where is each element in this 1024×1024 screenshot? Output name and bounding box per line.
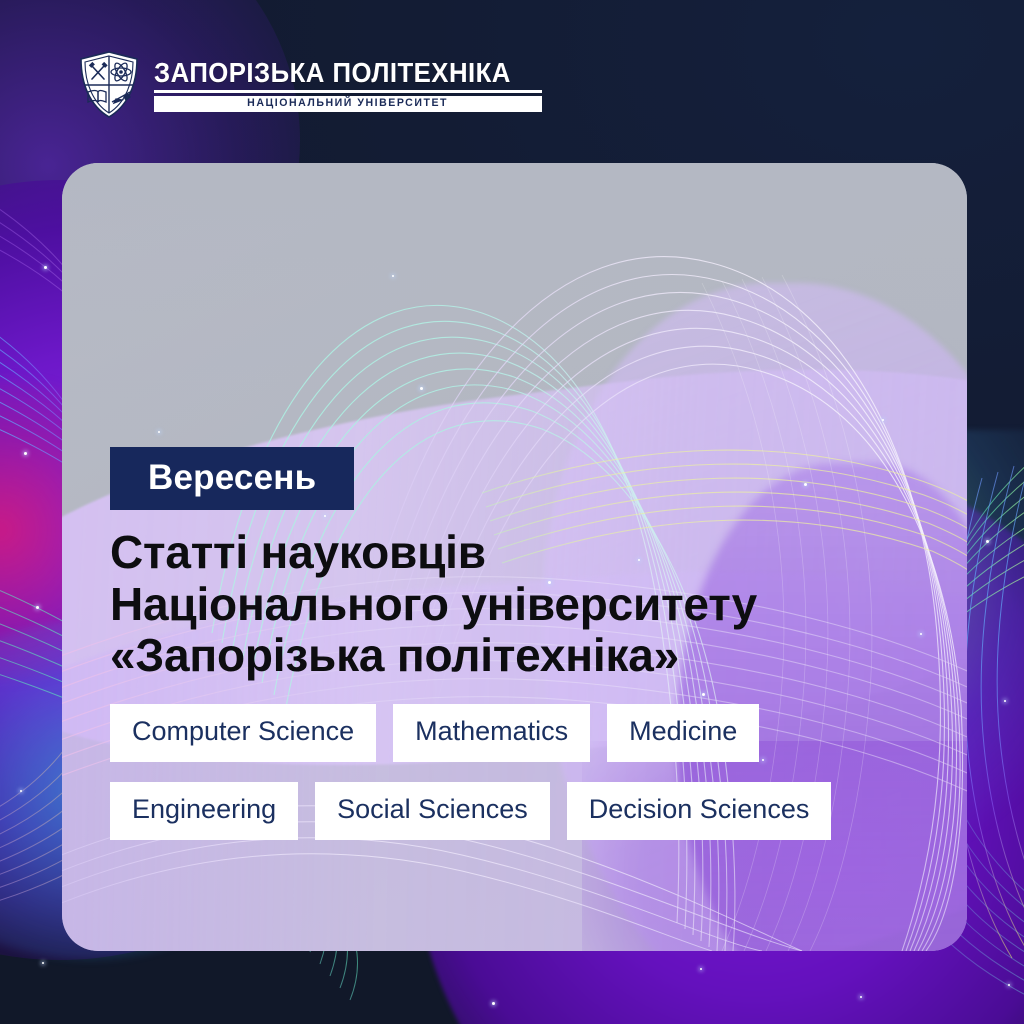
subject-tag-mathematics[interactable]: Mathematics: [393, 704, 590, 762]
logo-text-block: ЗАПОРІЗЬКА ПОЛІТЕХНІКА НАЦІОНАЛЬНИЙ УНІВ…: [154, 59, 542, 112]
shield-emblem-icon: [78, 50, 140, 120]
logo-sub-text: НАЦІОНАЛЬНИЙ УНІВЕРСИТЕТ: [248, 98, 449, 109]
logo-main-text: ЗАПОРІЗЬКА ПОЛІТЕХНІКА: [154, 59, 511, 87]
content-card: Вересень Статті науковців Національного …: [62, 163, 967, 951]
subject-tag-decision-sciences[interactable]: Decision Sciences: [567, 782, 832, 840]
month-badge: Вересень: [110, 447, 354, 510]
card-content: Вересень Статті науковців Національного …: [110, 447, 940, 840]
logo-divider-rule: [154, 90, 542, 93]
university-logo[interactable]: ЗАПОРІЗЬКА ПОЛІТЕХНІКА НАЦІОНАЛЬНИЙ УНІВ…: [78, 50, 542, 120]
logo-subtitle-band: НАЦІОНАЛЬНИЙ УНІВЕРСИТЕТ: [154, 96, 542, 112]
subject-tag-list: Computer Science Mathematics Medicine En…: [110, 704, 870, 840]
page-title: Статті науковців Національного університ…: [110, 527, 940, 682]
poster-canvas: Вересень Статті науковців Національного …: [0, 0, 1024, 1024]
subject-tag-engineering[interactable]: Engineering: [110, 782, 298, 840]
subject-tag-computer-science[interactable]: Computer Science: [110, 704, 376, 762]
subject-tag-social-sciences[interactable]: Social Sciences: [315, 782, 550, 840]
subject-tag-medicine[interactable]: Medicine: [607, 704, 759, 762]
